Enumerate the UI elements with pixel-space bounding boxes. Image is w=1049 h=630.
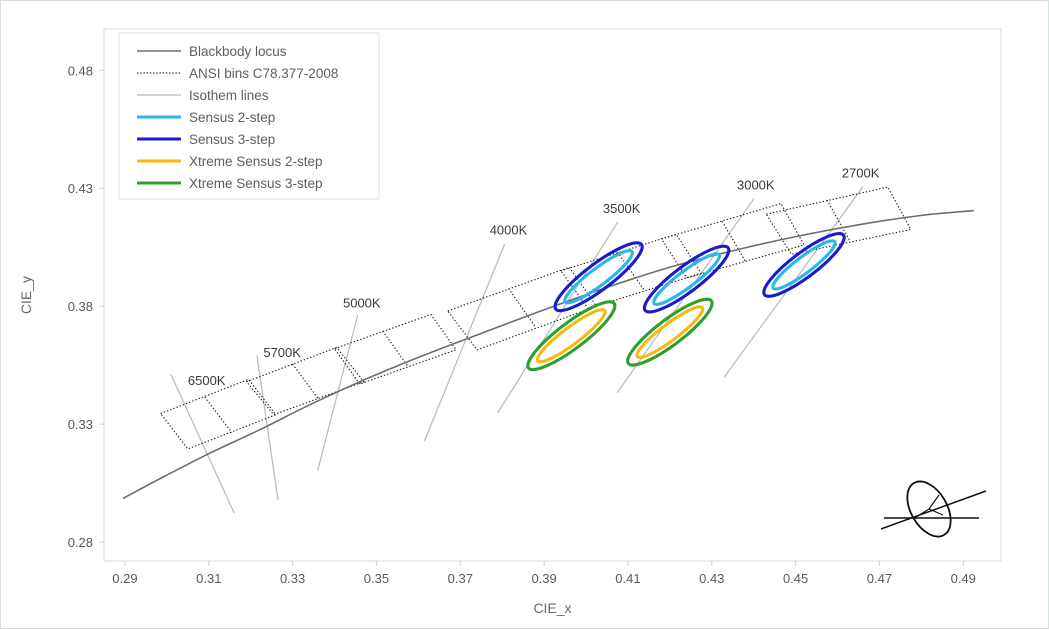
legend-label-2: Isothem lines [189, 88, 269, 103]
x-axis-title: CIE_x [533, 600, 571, 616]
x-tick-label-8: 0.45 [783, 571, 808, 586]
x-tick-label-6: 0.41 [615, 571, 640, 586]
cct-label-6500K: 6500K [188, 373, 226, 388]
cie-chromaticity-chart: 6500K5700K5000K4000K3500K3000K2700K 0.29… [1, 1, 1049, 630]
legend-label-3: Sensus 2-step [189, 110, 275, 125]
y-axis-title: CIE_y [18, 276, 34, 314]
x-tick-label-5: 0.39 [531, 571, 556, 586]
x-tick-label-4: 0.37 [448, 571, 473, 586]
x-tick-label-7: 0.43 [699, 571, 724, 586]
x-tick-label-0: 0.29 [112, 571, 137, 586]
x-tick-label-1: 0.31 [196, 571, 221, 586]
y-tick-label-1: 0.33 [68, 417, 93, 432]
x-tick-label-10: 0.49 [951, 571, 976, 586]
cct-label-2700K: 2700K [842, 166, 880, 181]
cct-label-5000K: 5000K [343, 295, 381, 310]
legend-label-0: Blackbody locus [189, 44, 287, 59]
legend-label-6: Xtreme Sensus 3-step [189, 176, 323, 191]
chart-legend: Blackbody locusANSI bins C78.377-2008Iso… [119, 33, 379, 199]
cct-label-3000K: 3000K [737, 177, 775, 192]
x-axis-ticks-group: 0.290.310.330.350.370.390.410.430.450.47… [112, 561, 976, 586]
cct-label-5700K: 5700K [263, 345, 301, 360]
chart-page: 6500K5700K5000K4000K3500K3000K2700K 0.29… [0, 0, 1049, 629]
x-tick-label-9: 0.47 [867, 571, 892, 586]
y-axis-ticks-group: 0.280.330.380.430.48 [68, 63, 104, 550]
y-tick-label-2: 0.38 [68, 299, 93, 314]
y-tick-label-4: 0.48 [68, 63, 93, 78]
legend-label-4: Sensus 3-step [189, 132, 275, 147]
x-tick-label-2: 0.33 [280, 571, 305, 586]
x-tick-label-3: 0.35 [364, 571, 389, 586]
cct-label-4000K: 4000K [490, 222, 528, 237]
y-tick-label-0: 0.28 [68, 535, 93, 550]
y-tick-label-3: 0.43 [68, 181, 93, 196]
legend-label-1: ANSI bins C78.377-2008 [189, 66, 338, 81]
cct-label-3500K: 3500K [603, 201, 641, 216]
legend-label-5: Xtreme Sensus 2-step [189, 154, 323, 169]
